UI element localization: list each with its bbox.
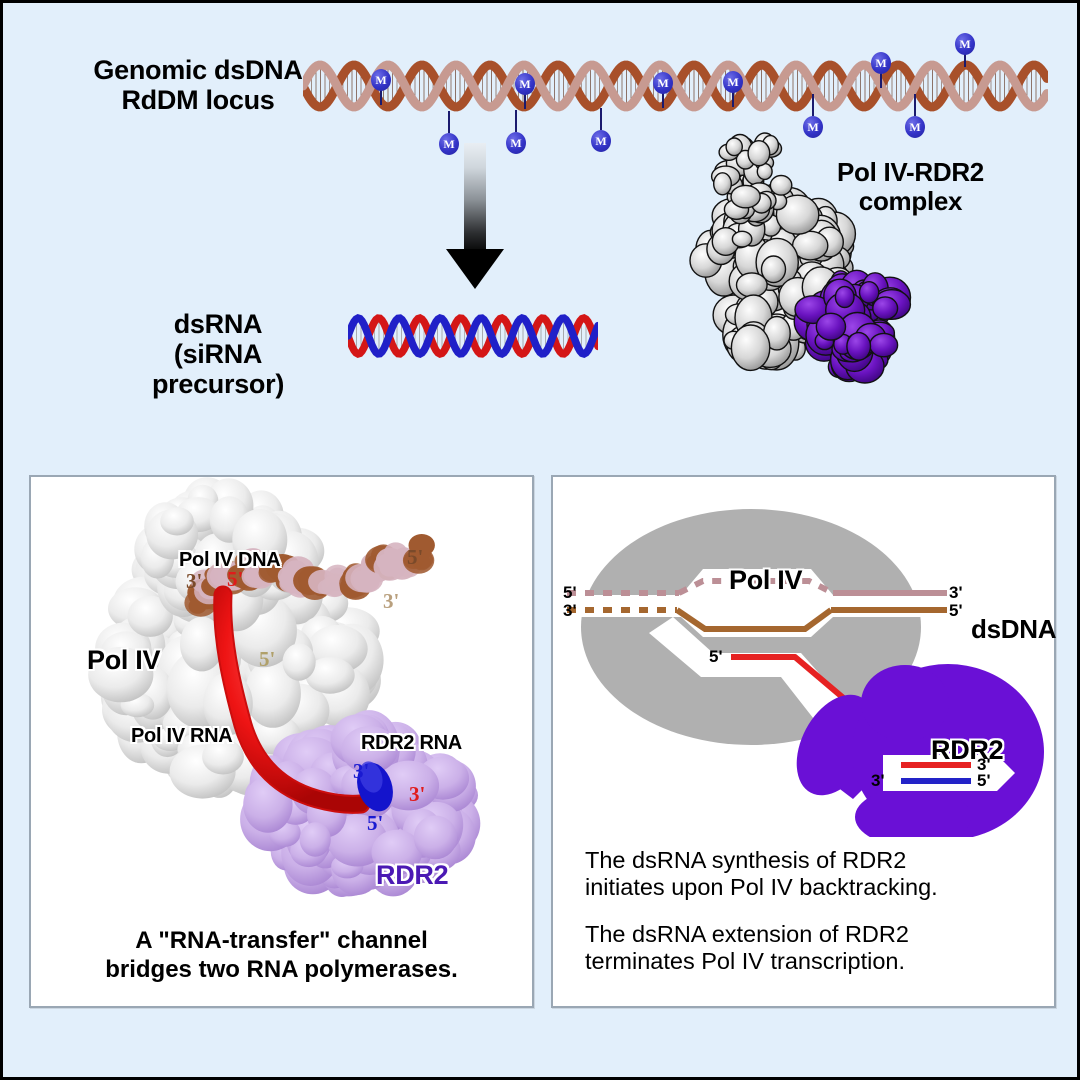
- prime-dna-right-top: 3': [949, 583, 963, 603]
- panel-left-caption: A "RNA-transfer" channel bridges two RNA…: [31, 927, 532, 984]
- rna-transfer-channel-panel: Pol IV Pol IV DNA Pol IV RNA RDR2 RNA RD…: [29, 475, 534, 1008]
- methyl-stem: [880, 72, 882, 88]
- dsrna-label-line2: (siRNA precursor): [113, 339, 323, 399]
- graphical-abstract: Genomic dsDNA RdDM locus MMMMMMMMMMM dsR…: [0, 0, 1080, 1080]
- prime-dna-nontemplate-3: 3': [383, 589, 399, 614]
- methyl-stem: [524, 93, 526, 109]
- pol4-rdr2-cryoem-density: [658, 128, 923, 388]
- methyl-stem: [812, 94, 814, 116]
- methylation-marks-layer: MMMMMMMMMMM: [303, 33, 1048, 143]
- pol4-rdr2-structure-svg: [31, 477, 532, 897]
- prime-rdr2-blue-3: 3': [871, 771, 885, 791]
- label-pol-iv: Pol IV: [87, 645, 160, 675]
- dsrna-label: dsRNA (siRNA precursor): [113, 309, 323, 400]
- label-pol-iv: Pol IV: [729, 565, 802, 595]
- prime-dna-nontemplate-5: 5': [407, 545, 423, 570]
- methyl-stem: [515, 110, 517, 132]
- prime-rdr2-rna-5: 5': [367, 811, 383, 836]
- methyl-badge: M: [653, 72, 673, 94]
- label-pol-iv-rna: Pol IV RNA: [131, 725, 232, 747]
- methyl-badge: M: [515, 73, 535, 95]
- arrow-head: [446, 249, 504, 289]
- dsrna-label-line1: dsRNA: [113, 309, 323, 339]
- backtracking-schematic-panel: Pol IV RDR2 dsDNA 5' 3' 3' 5' 5' 3' 3' 5…: [551, 475, 1056, 1008]
- structure-render-left: [31, 477, 532, 897]
- methyl-stem: [914, 94, 916, 116]
- prime-pol4-rna-3: 3': [409, 782, 425, 807]
- prime-dna-left-bottom: 3': [563, 601, 577, 621]
- caption-right-1-line1: The dsRNA synthesis of RDR2: [585, 847, 906, 873]
- panel-right-caption: The dsRNA synthesis of RDR2 initiates up…: [585, 847, 938, 995]
- methyl-badge: M: [506, 132, 526, 154]
- prime-dna-template-5: 5': [259, 647, 275, 672]
- arrow-shaft: [464, 143, 486, 255]
- caption-right-2-line2: terminates Pol IV transcription.: [585, 948, 905, 974]
- genomic-dsdna-label: Genomic dsDNA RdDM locus: [73, 55, 323, 115]
- methyl-stem: [732, 91, 734, 107]
- cryoem-svg: [658, 128, 923, 388]
- label-rdr2: RDR2: [376, 860, 448, 890]
- prime-rdr2-blue-5: 5': [977, 771, 991, 791]
- caption-left-line2: bridges two RNA polymerases.: [31, 956, 532, 984]
- methyl-stem: [964, 53, 966, 67]
- methyl-badge: M: [723, 71, 743, 93]
- caption-right-1-line2: initiates upon Pol IV backtracking.: [585, 874, 938, 900]
- prime-dna-left-top: 5': [563, 583, 577, 603]
- caption-right-block2: The dsRNA extension of RDR2 terminates P…: [585, 921, 938, 975]
- caption-right-2-line1: The dsRNA extension of RDR2: [585, 921, 909, 947]
- genomic-label-line1: Genomic dsDNA: [73, 55, 323, 85]
- methyl-stem: [600, 108, 602, 130]
- methyl-badge: M: [955, 33, 975, 55]
- methyl-stem: [448, 111, 450, 133]
- prime-rdr2-rna-3: 3': [353, 759, 369, 784]
- prime-rna-exit-5: 5': [709, 647, 723, 667]
- prime-dna-template-3: 3': [186, 569, 202, 594]
- label-rdr2: RDR2: [931, 735, 1003, 765]
- label-rdr2-rna: RDR2 RNA: [361, 732, 462, 754]
- caption-right-block1: The dsRNA synthesis of RDR2 initiates up…: [585, 847, 938, 901]
- prime-rna-5: 5': [227, 567, 243, 592]
- methyl-badge: M: [371, 69, 391, 91]
- methyl-stem: [662, 92, 664, 108]
- label-dsdna: dsDNA: [971, 615, 1056, 644]
- prime-dna-right-bottom: 5': [949, 601, 963, 621]
- process-arrow: [446, 143, 506, 293]
- methyl-badge: M: [591, 130, 611, 152]
- caption-left-line1: A "RNA-transfer" channel: [31, 927, 532, 955]
- dsrna-svg: [348, 305, 598, 367]
- methyl-badge: M: [871, 52, 891, 74]
- genomic-label-line2: RdDM locus: [73, 85, 323, 115]
- dsrna-helix: [348, 305, 598, 367]
- methyl-stem: [380, 89, 382, 105]
